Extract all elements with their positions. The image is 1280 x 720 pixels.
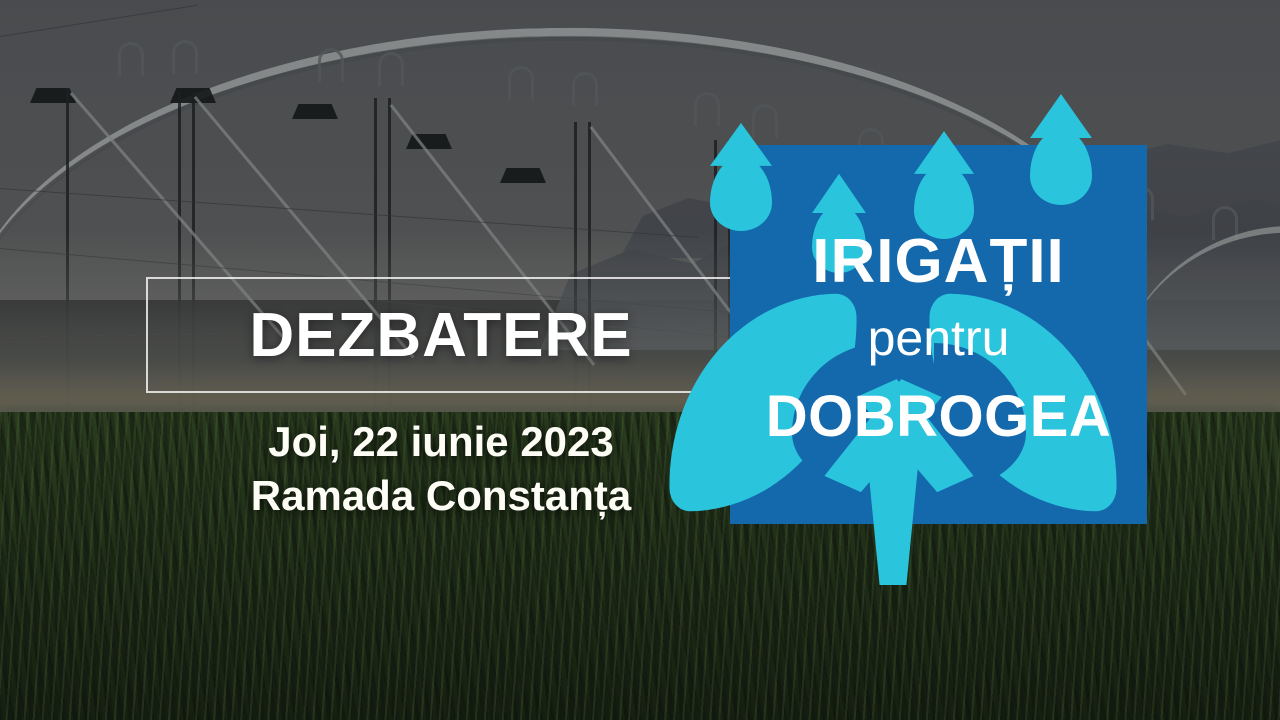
logo-line-2: pentru	[730, 313, 1147, 363]
poster-slide: DEZBATERE Joi, 22 iunie 2023 Ramada Cons…	[0, 0, 1280, 720]
page-title: DEZBATERE	[146, 277, 736, 393]
logo-line-1: IRIGAȚII	[730, 231, 1147, 293]
event-meta: Joi, 22 iunie 2023 Ramada Constanța	[146, 415, 736, 523]
logo-wordmark: IRIGAȚII pentru DOBROGEA	[730, 145, 1147, 524]
event-venue: Ramada Constanța	[146, 469, 736, 523]
event-date: Joi, 22 iunie 2023	[146, 415, 736, 469]
logo-irigatii-pentru-dobrogea: IRIGAȚII pentru DOBROGEA	[660, 105, 1160, 580]
logo-line-3: DOBROGEA	[730, 388, 1147, 446]
